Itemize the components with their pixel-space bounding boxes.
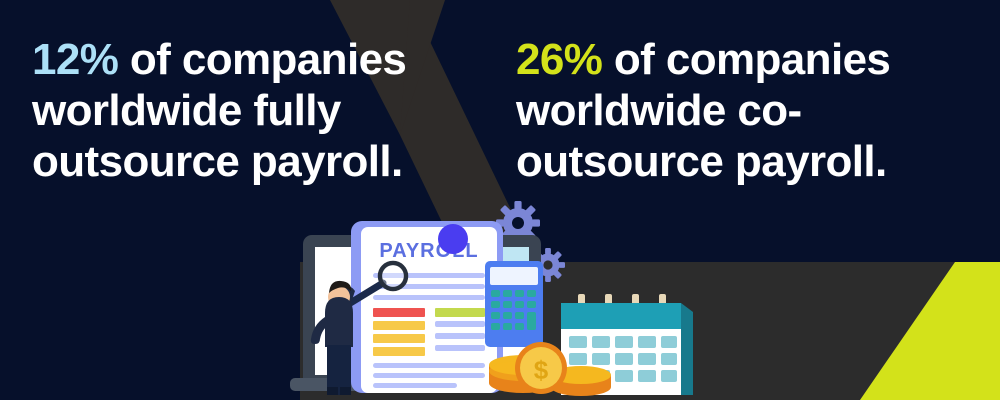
stat-percent-co-outsource: 26% (516, 35, 602, 84)
infographic-canvas: 12% of companies worldwide fully outsour… (0, 0, 1000, 400)
illustration-svg: PAYROLL (285, 195, 705, 400)
coin-dollar-symbol: $ (534, 355, 549, 385)
lime-wedge-shape (860, 262, 1000, 400)
stat-line-co-outsource: 26% of companies worldwide co-outsource … (516, 34, 976, 187)
payroll-illustration: PAYROLL (285, 195, 705, 400)
calculator-illustration (485, 261, 543, 347)
stat-line-fully-outsource: 12% of companies worldwide fully outsour… (32, 34, 432, 187)
payroll-document: PAYROLL (351, 221, 503, 393)
navy-bottom-left-block (0, 262, 300, 400)
stat-block-co-outsource: 26% of companies worldwide co-outsource … (516, 34, 976, 187)
blue-dot-accent (438, 224, 468, 254)
stat-percent-fully-outsource: 12% (32, 35, 118, 84)
stat-block-fully-outsource: 12% of companies worldwide fully outsour… (32, 34, 432, 187)
